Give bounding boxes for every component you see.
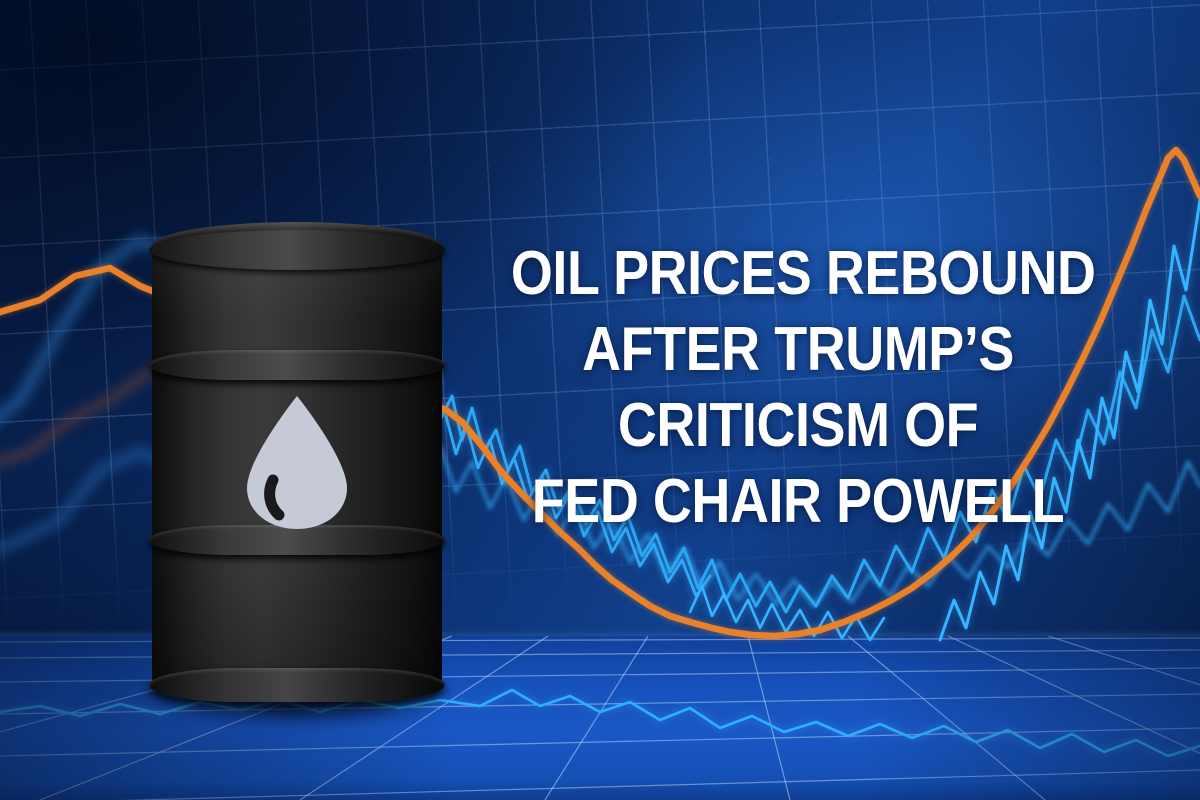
oil-drop-icon — [243, 392, 351, 532]
page-title: OIL PRICES REBOUND AFTER TRUMP’S CRITICI… — [511, 236, 1085, 540]
headline-line-1: OIL PRICES REBOUND — [511, 236, 1085, 312]
oil-barrel — [138, 222, 456, 708]
headline-line-2: AFTER TRUMP’S — [511, 312, 1085, 388]
barrel-top-rim — [149, 230, 445, 270]
headline-line-3: CRITICISM OF — [511, 388, 1085, 464]
barrel-bottom-rim — [149, 668, 445, 702]
barrel-rib-upper — [149, 350, 445, 380]
headline-line-4: FED CHAIR POWELL — [511, 464, 1085, 540]
banner-image: OIL PRICES REBOUND AFTER TRUMP’S CRITICI… — [0, 0, 1200, 800]
